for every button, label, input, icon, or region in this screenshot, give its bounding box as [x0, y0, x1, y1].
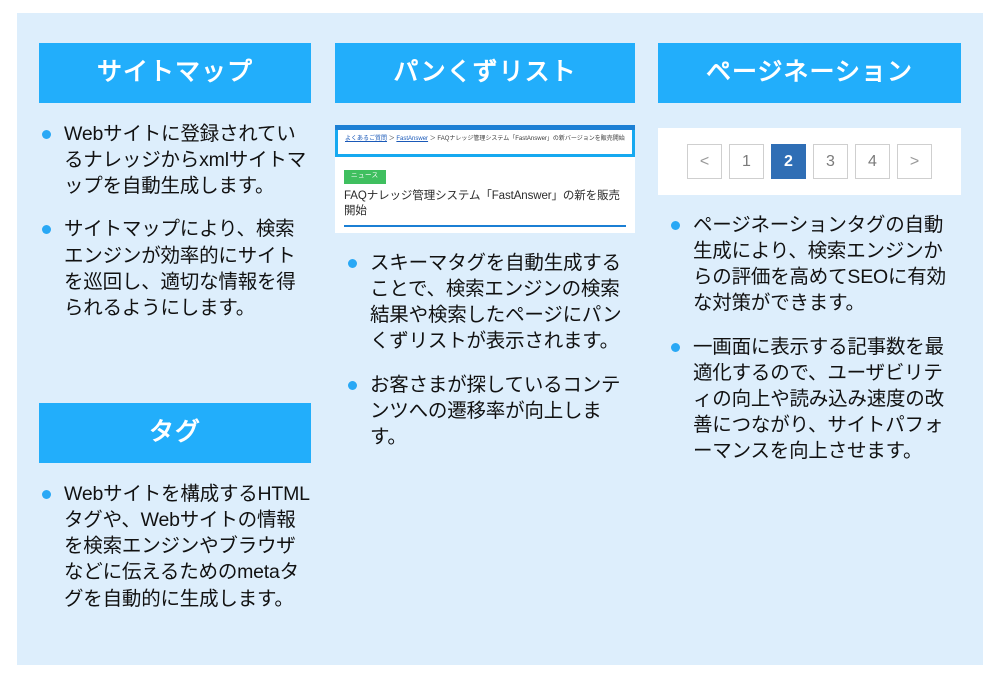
article-title: FAQナレッジ管理システム「FastAnswer」の新を販売開始: [344, 189, 626, 220]
article-bottom-rule: [344, 225, 626, 227]
pagination-next-button[interactable]: >: [897, 144, 932, 179]
bullet-list-breadcrumb: スキーマタグを自動生成することで、検索エンジンの検索結果や検索したページにパンく…: [345, 250, 630, 450]
breadcrumb-separator: ＞: [430, 136, 436, 142]
list-item: Webサイトに登録されているナレッジからxmlサイトマップを自動生成します。: [39, 121, 307, 199]
pagination-page-4[interactable]: 4: [855, 144, 890, 179]
slide-panel: サイトマップ Webサイトに登録されているナレッジからxmlサイトマップを自動生…: [17, 13, 983, 665]
pagination-page-2[interactable]: 2: [771, 144, 806, 179]
list-item: お客さまが探しているコンテンツへの遷移率が向上します。: [345, 372, 630, 450]
breadcrumb-current: FAQナレッジ管理システム「FastAnswer」の新バージョンを販売開始: [437, 136, 624, 142]
pagination-control: < 1 2 3 4 >: [687, 144, 932, 179]
list-item: サイトマップにより、検索エンジンが効率的にサイトを巡回し、適切な情報を得られるよ…: [39, 216, 307, 321]
pagination-page-1[interactable]: 1: [729, 144, 764, 179]
news-article-preview: ニュース FAQナレッジ管理システム「FastAnswer」の新を販売開始: [335, 157, 635, 227]
section-header-breadcrumb: パンくずリスト: [335, 43, 635, 103]
section-header-sitemap: サイトマップ: [39, 43, 311, 103]
pagination-prev-button[interactable]: <: [687, 144, 722, 179]
pagination-page-3[interactable]: 3: [813, 144, 848, 179]
section-header-pagination: ページネーション: [658, 43, 961, 103]
breadcrumb: よくあるご質問 ＞ FastAnswer ＞ FAQナレッジ管理システム「Fas…: [345, 136, 625, 142]
breadcrumb-link-fastanswer[interactable]: FastAnswer: [396, 136, 428, 142]
list-item: 一画面に表示する記事数を最適化するので、ユーザビリティの向上や読み込み速度の改善…: [668, 334, 958, 465]
pagination-card: < 1 2 3 4 >: [658, 128, 961, 195]
section-header-tag: タグ: [39, 403, 311, 463]
list-item: ページネーションタグの自動生成により、検索エンジンからの評価を高めてSEOに有効…: [668, 212, 958, 317]
breadcrumb-highlight-box: よくあるご質問 ＞ FastAnswer ＞ FAQナレッジ管理システム「Fas…: [335, 130, 635, 157]
list-item: Webサイトを構成するHTMLタグや、Webサイトの情報を検索エンジンやブラウザ…: [39, 481, 311, 612]
status-badge: ニュース: [344, 170, 386, 184]
list-item: スキーマタグを自動生成することで、検索エンジンの検索結果や検索したページにパンく…: [345, 250, 630, 355]
bullet-list-sitemap: Webサイトに登録されているナレッジからxmlサイトマップを自動生成します。 サ…: [39, 121, 307, 321]
bullet-list-tag: Webサイトを構成するHTMLタグや、Webサイトの情報を検索エンジンやブラウザ…: [39, 481, 311, 612]
bullet-list-pagination: ページネーションタグの自動生成により、検索エンジンからの評価を高めてSEOに有効…: [668, 212, 958, 464]
breadcrumb-screenshot: よくあるご質問 ＞ FastAnswer ＞ FAQナレッジ管理システム「Fas…: [335, 125, 635, 233]
breadcrumb-separator: ＞: [389, 136, 395, 142]
breadcrumb-link-faq[interactable]: よくあるご質問: [345, 136, 387, 142]
